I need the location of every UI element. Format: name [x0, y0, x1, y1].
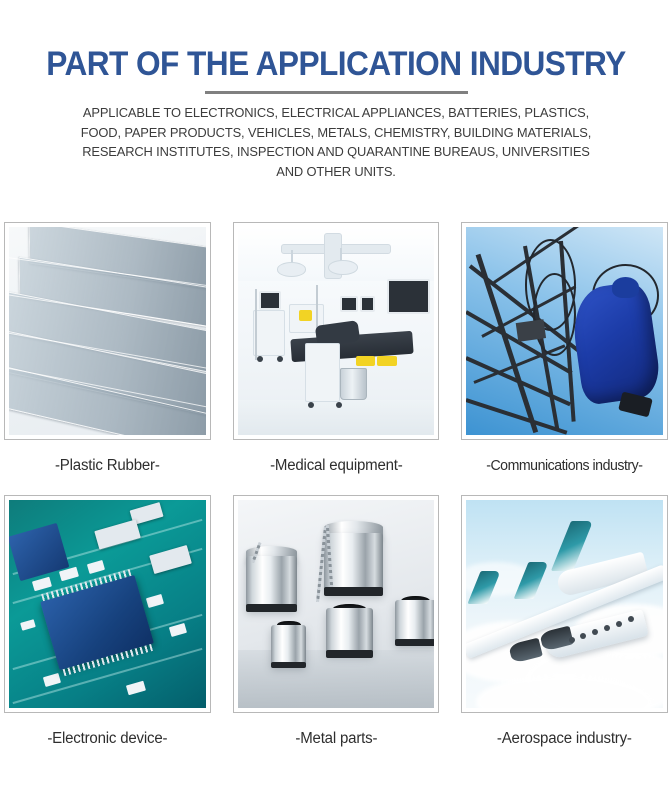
- industry-card[interactable]: -Medical equipment-: [233, 222, 440, 476]
- card-caption: -Medical equipment-: [236, 456, 436, 476]
- card-caption: -Electronic device-: [7, 729, 207, 749]
- card-caption: -Aerospace industry-: [464, 729, 664, 749]
- industry-card[interactable]: -Communications industry-: [461, 222, 668, 476]
- card-caption: -Communications industry-: [464, 456, 664, 476]
- industry-card[interactable]: -Aerospace industry-: [461, 495, 668, 749]
- medical-operating-room-photo: [238, 227, 435, 435]
- industry-card-grid: -Plastic Rubber-: [4, 222, 668, 749]
- image-frame: [4, 495, 211, 713]
- image-frame: [4, 222, 211, 440]
- telecom-tower-worker-photo: [466, 227, 663, 435]
- page-subtitle: APPLICABLE TO ELECTRONICS, ELECTRICAL AP…: [74, 103, 598, 181]
- industry-card[interactable]: -Electronic device-: [4, 495, 211, 749]
- industry-card[interactable]: -Metal parts-: [233, 495, 440, 749]
- image-frame: [233, 222, 440, 440]
- title-divider: [205, 91, 468, 94]
- card-caption: -Metal parts-: [236, 729, 436, 749]
- image-frame: [233, 495, 440, 713]
- stainless-steel-fittings-photo: [238, 500, 435, 708]
- plastic-rubber-sheets-photo: [9, 227, 206, 435]
- page-header: PART OF THE APPLICATION INDUSTRY APPLICA…: [0, 0, 672, 181]
- aircraft-above-clouds-photo: [466, 500, 663, 708]
- printed-circuit-board-photo: [9, 500, 206, 708]
- application-industry-page: PART OF THE APPLICATION INDUSTRY APPLICA…: [0, 0, 672, 800]
- image-frame: [461, 495, 668, 713]
- card-caption: -Plastic Rubber-: [7, 456, 207, 476]
- industry-card[interactable]: -Plastic Rubber-: [4, 222, 211, 476]
- image-frame: [461, 222, 668, 440]
- page-title: PART OF THE APPLICATION INDUSTRY: [24, 44, 649, 84]
